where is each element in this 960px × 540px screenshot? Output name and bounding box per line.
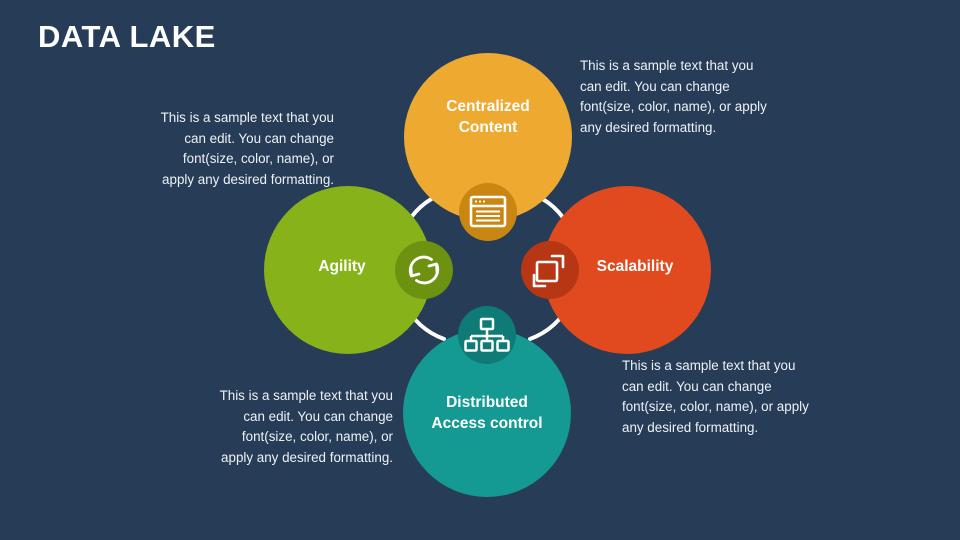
description-bottom-right: This is a sample text that you can edit.…: [622, 356, 814, 438]
agility-badge: [395, 241, 453, 299]
description-bottom-left: This is a sample text that you can edit.…: [207, 386, 393, 468]
description-top-right: This is a sample text that you can edit.…: [580, 56, 772, 138]
node-centralized-content[interactable]: [404, 53, 572, 241]
data-lake-diagram: [0, 0, 960, 540]
node-distributed-access-control[interactable]: [403, 306, 571, 497]
scalability-badge: [521, 241, 579, 299]
description-top-left: This is a sample text that you can edit.…: [148, 108, 334, 190]
slide-canvas: DATA LAKE: [0, 0, 960, 540]
